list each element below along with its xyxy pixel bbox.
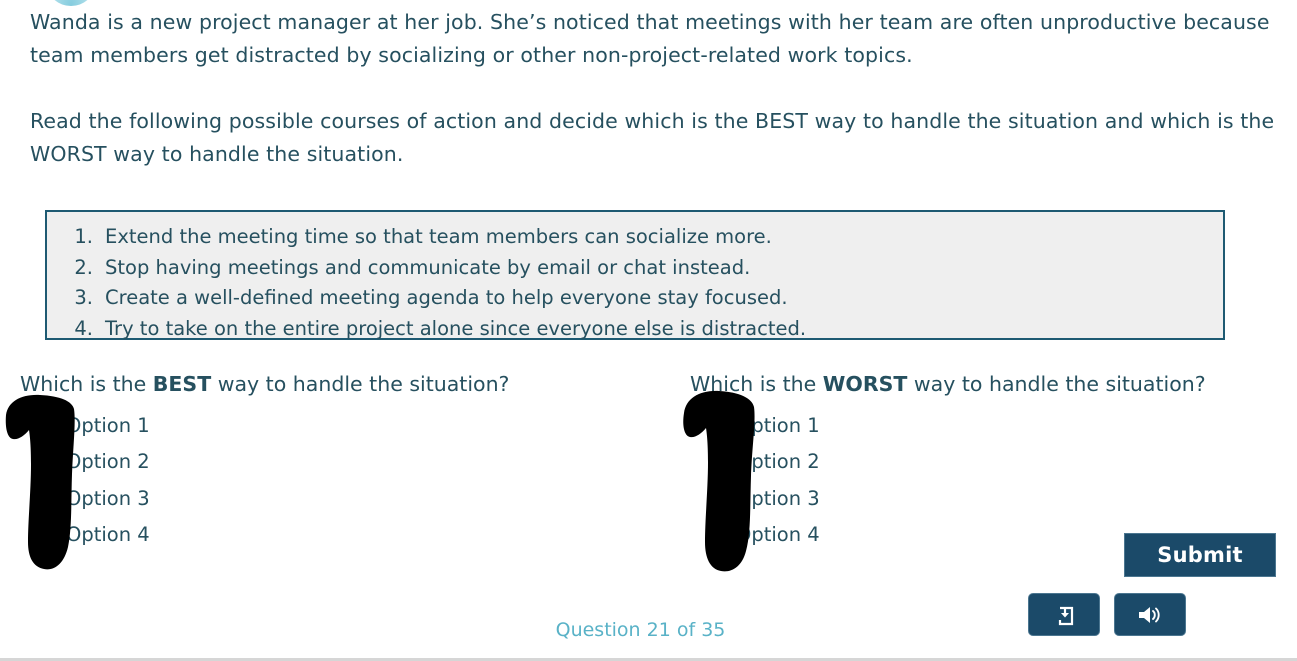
worst-answer-column: Which is the WORST way to handle the sit… [690, 371, 1206, 553]
list-item: 3. Create a well-defined meeting agenda … [105, 283, 1223, 314]
best-answer-column: Which is the BEST way to handle the situ… [20, 371, 509, 553]
best-question-keyword: BEST [153, 372, 211, 396]
radio-button-icon[interactable] [712, 491, 727, 506]
best-radio-option-1[interactable]: Option 1 [20, 407, 509, 444]
best-radio-option-4[interactable]: Option 4 [20, 517, 509, 554]
scenario-text: Wanda is a new project manager at her jo… [30, 6, 1275, 171]
question-counter: Question 21 of 35 [0, 619, 1297, 641]
best-question-suffix: way to handle the situation? [211, 372, 509, 396]
list-item-text: Stop having meetings and communicate by … [105, 256, 750, 279]
list-item-text: Create a well-defined meeting agenda to … [105, 286, 788, 309]
list-item: 1. Extend the meeting time so that team … [105, 222, 1223, 253]
worst-radio-option-1[interactable]: Option 1 [690, 407, 1206, 444]
radio-button-icon[interactable] [712, 454, 727, 469]
best-option-label-1[interactable]: Option 1 [66, 414, 150, 437]
worst-question-keyword: WORST [823, 372, 908, 396]
radio-button-icon[interactable] [42, 454, 57, 469]
list-item-text: Extend the meeting time so that team mem… [105, 225, 772, 248]
list-item-text: Try to take on the entire project alone … [105, 317, 806, 340]
list-item-number: 2. [63, 253, 93, 284]
best-option-label-2[interactable]: Option 2 [66, 450, 150, 473]
best-radio-option-2[interactable]: Option 2 [20, 444, 509, 481]
worst-question-label: Which is the WORST way to handle the sit… [690, 371, 1206, 397]
scenario-paragraph-1: Wanda is a new project manager at her jo… [30, 6, 1275, 72]
scenario-paragraph-2: Read the following possible courses of a… [30, 105, 1275, 171]
worst-radio-option-3[interactable]: Option 3 [690, 480, 1206, 517]
list-item: 4. Try to take on the entire project alo… [105, 314, 1223, 345]
list-item-number: 3. [63, 283, 93, 314]
list-item-number: 4. [63, 314, 93, 345]
worst-question-prefix: Which is the [690, 372, 823, 396]
worst-option-label-1[interactable]: Option 1 [736, 414, 820, 437]
radio-button-icon[interactable] [42, 491, 57, 506]
best-option-label-3[interactable]: Option 3 [66, 487, 150, 510]
radio-button-icon[interactable] [712, 418, 727, 433]
best-radio-option-3[interactable]: Option 3 [20, 480, 509, 517]
radio-button-icon[interactable] [42, 418, 57, 433]
list-item: 2. Stop having meetings and communicate … [105, 253, 1223, 284]
courses-of-action-box: 1. Extend the meeting time so that team … [45, 210, 1225, 340]
worst-option-label-3[interactable]: Option 3 [736, 487, 820, 510]
list-item-number: 1. [63, 222, 93, 253]
courses-of-action-list: 1. Extend the meeting time so that team … [47, 212, 1223, 344]
best-option-label-4[interactable]: Option 4 [66, 523, 150, 546]
radio-button-icon[interactable] [712, 527, 727, 542]
best-question-label: Which is the BEST way to handle the situ… [20, 371, 509, 397]
worst-radio-option-2[interactable]: Option 2 [690, 444, 1206, 481]
radio-button-icon[interactable] [42, 527, 57, 542]
submit-button[interactable]: Submit [1124, 533, 1276, 577]
worst-option-label-2[interactable]: Option 2 [736, 450, 820, 473]
worst-question-suffix: way to handle the situation? [907, 372, 1205, 396]
worst-option-label-4[interactable]: Option 4 [736, 523, 820, 546]
best-question-prefix: Which is the [20, 372, 153, 396]
